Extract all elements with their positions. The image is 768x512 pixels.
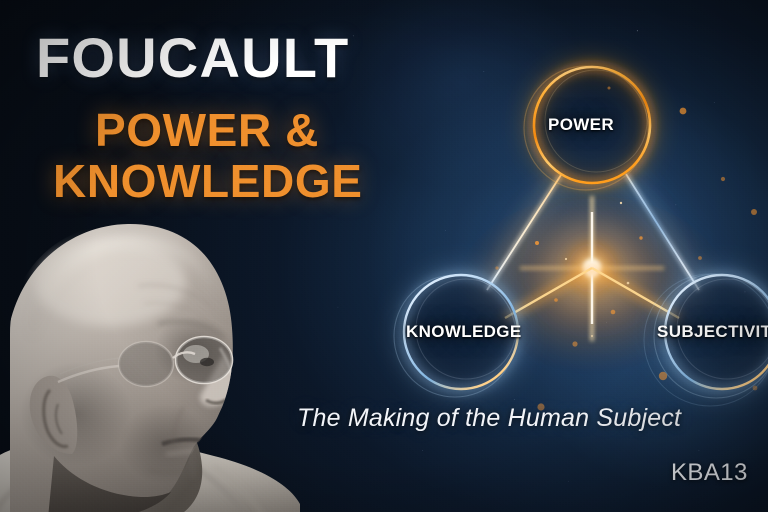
vignette-overlay [0, 0, 768, 512]
poster-canvas: FOUCAULT POWER & KNOWLEDGE POWER KNOWLED… [0, 0, 768, 512]
